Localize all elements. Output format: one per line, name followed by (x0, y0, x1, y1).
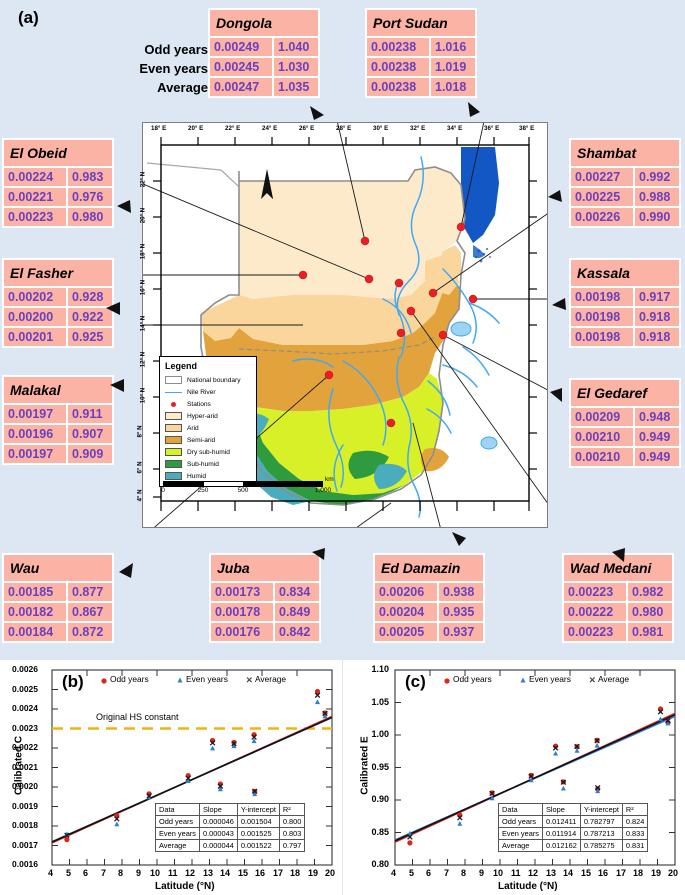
legend-label: Semi-arid (187, 437, 215, 444)
lon-tick: 28° E (336, 125, 351, 132)
table-row: 0.002050.937 (375, 623, 483, 641)
cell-c: 0.00197 (4, 445, 66, 463)
cell-c: 0.00227 (571, 168, 633, 186)
station-name: Shambat (571, 140, 679, 166)
table-row: 0.002090.948 (571, 408, 679, 426)
y-tick: 0.0024 (12, 703, 38, 713)
x-tick: 14 (220, 868, 230, 878)
cell-c: 0.00205 (375, 623, 437, 641)
station-table-shambat: Shambat 0.002270.992 0.002250.988 0.0022… (569, 138, 681, 228)
cell-c: 0.00185 (4, 583, 66, 601)
cell-c: 0.00201 (4, 328, 66, 346)
cell-e: 0.922 (68, 308, 112, 326)
cell-c: 0.00202 (4, 288, 66, 306)
x-tick: 11 (168, 868, 178, 878)
y-axis-label: Calibrated E (360, 716, 371, 816)
chart-b-calibrated-c: (b) Odd years Even years Average Origina… (0, 660, 342, 895)
cell-c: 0.00206 (375, 583, 437, 601)
x-tick: 7 (101, 868, 106, 878)
table-row: 0.002220.980 (564, 603, 672, 621)
station-name: Wau (4, 555, 112, 581)
station-table-port-sudan: Port Sudan 0.002381.016 0.002381.019 0.0… (365, 8, 477, 98)
station-table-kassala: Kassala 0.001980.917 0.001980.918 0.0019… (569, 258, 681, 348)
lat-tick: 8° N (137, 425, 144, 437)
x-tick: 16 (598, 868, 608, 878)
station-dot-icon (165, 402, 182, 407)
legend-label: Humid (187, 473, 206, 480)
hs-constant-annotation: Original HS constant (96, 712, 179, 722)
legend-marker-odd-years (101, 678, 106, 683)
map-scale-bar: km 0 250 500 1,000 (163, 481, 335, 496)
station-table-wau: Wau 0.001850.877 0.001820.867 0.001840.8… (2, 553, 114, 643)
cell-c: 0.00176 (211, 623, 273, 641)
cell-e: 0.925 (68, 328, 112, 346)
cell-e: 0.983 (68, 168, 112, 186)
lat-tick: 12° N (139, 352, 146, 368)
lon-tick: 20° E (188, 125, 203, 132)
lat-tick: 22° N (139, 172, 146, 188)
cell-c: 0.00225 (571, 188, 633, 206)
x-tick: 16 (255, 868, 265, 878)
col-header-yintercept: Y-intercept (237, 804, 279, 816)
cell-c: 0.00182 (4, 603, 66, 621)
table-row: Even years 0.011914 0.787213 0.833 (499, 828, 648, 840)
cell-c: 0.00249 (210, 38, 272, 56)
x-tick: 14 (563, 868, 573, 878)
scale-tick: 250 (198, 487, 209, 494)
cell-e: 0.980 (68, 208, 112, 226)
station-name: El Obeid (4, 140, 112, 166)
cell-c: 0.00196 (4, 425, 66, 443)
humid-swatch-icon (165, 472, 182, 480)
station-name: Wad Medani (564, 555, 672, 581)
table-row: Even years 0.000043 0.001525 0.803 (156, 828, 305, 840)
cell-c: 0.00200 (4, 308, 66, 326)
table-row: 0.001780.849 (211, 603, 319, 621)
table-header-row: Data Slope Y-intercept R² (156, 804, 305, 816)
table-row: 0.002100.949 (571, 428, 679, 446)
table-row: Odd years 0.000046 0.001504 0.800 (156, 816, 305, 828)
cell-e: 1.019 (431, 58, 475, 76)
legend-item-arid: Arid (165, 422, 251, 434)
table-row: 0.002491.040 (210, 38, 318, 56)
x-tick: 6 (426, 868, 431, 878)
lon-tick: 36° E (484, 125, 499, 132)
scale-unit: km (325, 476, 334, 483)
table-row: 0.002040.935 (375, 603, 483, 621)
cell-e: 0.982 (628, 583, 672, 601)
station-name: Port Sudan (367, 10, 475, 36)
y-tick: 0.80 (371, 859, 389, 869)
fit-table-c: Data Slope Y-intercept R² Odd years 0.01… (498, 803, 648, 852)
station-table-malakal: Malakal 0.001970.911 0.001960.907 0.0019… (2, 375, 114, 465)
cell-e: 0.872 (68, 623, 112, 641)
lon-tick: 22° E (225, 125, 240, 132)
lat-tick: 14° N (139, 316, 146, 332)
cell-c: 0.00197 (4, 405, 66, 423)
panel-b-label: (b) (62, 672, 84, 692)
legend-label-odd-years: Odd years (453, 674, 492, 684)
legend-label: National boundary (187, 377, 241, 384)
table-row: 0.002270.992 (571, 168, 679, 186)
table-row-labels: Odd years Even years Average (110, 40, 208, 97)
legend-label-odd-years: Odd years (110, 674, 149, 684)
x-tick: 9 (136, 868, 141, 878)
cell-e: 0.980 (628, 603, 672, 621)
table-row: 0.001960.907 (4, 425, 112, 443)
x-tick: 8 (461, 868, 466, 878)
station-name: Dongola (210, 10, 318, 36)
cell-e: 0.918 (635, 308, 679, 326)
table-header-row: Data Slope Y-intercept R² (499, 804, 648, 816)
legend-item-dry-sub-humid: Dry sub-humid (165, 446, 251, 458)
x-tick: 4 (391, 868, 396, 878)
cell-c: 0.00223 (4, 208, 66, 226)
cell-e: 0.834 (275, 583, 319, 601)
cell-e: 0.917 (635, 288, 679, 306)
cell-e: 0.909 (68, 445, 112, 463)
table-row: 0.002260.990 (571, 208, 679, 226)
table-row: 0.002230.980 (4, 208, 112, 226)
col-header-r2: R² (622, 804, 648, 816)
lat-tick: 20° N (139, 208, 146, 224)
station-table-dongola: Dongola 0.002491.040 0.002451.030 0.0024… (208, 8, 320, 98)
x-tick: 20 (668, 868, 678, 878)
chart-b-svg (0, 660, 342, 895)
y-tick: 0.95 (371, 762, 389, 772)
cell-e: 0.990 (635, 208, 679, 226)
x-tick: 10 (493, 868, 503, 878)
cell-c: 0.00204 (375, 603, 437, 621)
chart-c-calibrated-e: (c) Odd years Even years Average 0.80 0.… (343, 660, 685, 895)
station-name: Juba (211, 555, 319, 581)
cell-e: 0.918 (635, 328, 679, 346)
station-table-juba: Juba 0.001730.834 0.001780.849 0.001760.… (209, 553, 321, 643)
cell-c: 0.00245 (210, 58, 272, 76)
table-row: 0.002471.035 (210, 78, 318, 96)
x-tick: 15 (581, 868, 591, 878)
lat-tick: 16° N (139, 280, 146, 296)
cell-c: 0.00209 (571, 408, 633, 426)
cell-e: 1.040 (274, 38, 318, 56)
cell-e: 0.949 (635, 448, 679, 466)
cell-c: 0.00210 (571, 428, 633, 446)
legend-item-nile-river: Nile River (165, 386, 251, 398)
table-row: 0.002060.938 (375, 583, 483, 601)
map-legend: Legend National boundary Nile River Stat… (159, 356, 257, 487)
lon-tick: 38° E (519, 125, 534, 132)
table-row: 0.002010.925 (4, 328, 112, 346)
table-row: 0.001820.867 (4, 603, 112, 621)
dry-sub-humid-swatch-icon (165, 448, 182, 456)
cell-e: 0.937 (439, 623, 483, 641)
y-tick: 0.90 (371, 794, 389, 804)
legend-label-average: Average (255, 674, 286, 684)
station-table-el-gedaref: El Gedaref 0.002090.948 0.002100.949 0.0… (569, 378, 681, 468)
x-tick: 12 (185, 868, 195, 878)
lat-tick: 10° N (139, 388, 146, 404)
cell-c: 0.00238 (367, 78, 429, 96)
cell-e: 0.938 (439, 583, 483, 601)
cell-e: 0.992 (635, 168, 679, 186)
cell-e: 0.948 (635, 408, 679, 426)
scale-tick: 1,000 (315, 487, 331, 494)
table-row: Average 0.000044 0.001522 0.797 (156, 840, 305, 852)
scale-tick: 0 (161, 487, 165, 494)
station-name: Kassala (571, 260, 679, 286)
table-row: Odd years 0.012411 0.782797 0.824 (499, 816, 648, 828)
x-tick: 15 (238, 868, 248, 878)
col-header-r2: R² (279, 804, 305, 816)
col-header-slope: Slope (199, 804, 237, 816)
x-tick: 9 (479, 868, 484, 878)
table-row: 0.002020.928 (4, 288, 112, 306)
table-row: 0.002451.030 (210, 58, 318, 76)
y-tick: 0.0017 (12, 840, 38, 850)
cell-c: 0.00210 (571, 448, 633, 466)
col-header-data: Data (499, 804, 543, 816)
sub-humid-swatch-icon (165, 460, 182, 468)
legend-title: Legend (165, 361, 251, 371)
cell-e: 0.949 (635, 428, 679, 446)
national-boundary-swatch-icon (165, 376, 182, 384)
cell-c: 0.00173 (211, 583, 273, 601)
station-name: Malakal (4, 377, 112, 403)
station-table-wad-medani: Wad Medani 0.002230.982 0.002220.980 0.0… (562, 553, 674, 643)
legend-marker-odd-years (444, 678, 449, 683)
row-label-even-years: Even years (110, 59, 208, 78)
x-axis-label: Latitude (°N) (498, 881, 558, 892)
x-tick: 17 (616, 868, 626, 878)
fit-table-b: Data Slope Y-intercept R² Odd years 0.00… (155, 803, 305, 852)
panel-a-label: (a) (18, 8, 39, 28)
table-row: 0.002381.019 (367, 58, 475, 76)
cell-c: 0.00238 (367, 58, 429, 76)
legend-item-sub-humid: Sub-humid (165, 458, 251, 470)
table-row: 0.001730.834 (211, 583, 319, 601)
cell-c: 0.00223 (564, 583, 626, 601)
station-table-el-fasher: El Fasher 0.002020.928 0.002000.922 0.00… (2, 258, 114, 348)
x-tick: 13 (203, 868, 213, 878)
x-tick: 5 (409, 868, 414, 878)
x-tick: 20 (325, 868, 335, 878)
table-row: 0.001980.918 (571, 308, 679, 326)
cell-e: 0.911 (68, 405, 112, 423)
station-name: El Gedaref (571, 380, 679, 406)
legend-item-semi-arid: Semi-arid (165, 434, 251, 446)
col-header-data: Data (156, 804, 200, 816)
cell-e: 0.907 (68, 425, 112, 443)
cell-c: 0.00198 (571, 328, 633, 346)
y-tick: 0.0026 (12, 664, 38, 674)
legend-label: Sub-humid (187, 461, 219, 468)
arid-swatch-icon (165, 424, 182, 432)
legend-label: Stations (187, 401, 211, 408)
cell-c: 0.00178 (211, 603, 273, 621)
station-name: El Fasher (4, 260, 112, 286)
cell-c: 0.00223 (564, 623, 626, 641)
table-row: 0.001840.872 (4, 623, 112, 641)
lon-tick: 26° E (299, 125, 314, 132)
cell-c: 0.00198 (571, 308, 633, 326)
cell-e: 0.935 (439, 603, 483, 621)
table-row: 0.002230.981 (564, 623, 672, 641)
x-axis-label: Latitude (°N) (155, 881, 215, 892)
table-row: 0.001980.918 (571, 328, 679, 346)
lon-tick: 34° E (447, 125, 462, 132)
cell-e: 1.035 (274, 78, 318, 96)
cell-e: 0.976 (68, 188, 112, 206)
cell-e: 0.842 (275, 623, 319, 641)
cell-c: 0.00238 (367, 38, 429, 56)
panel-c-label: (c) (405, 672, 426, 692)
x-tick: 7 (444, 868, 449, 878)
legend-item-stations: Stations (165, 398, 251, 410)
x-tick: 18 (290, 868, 300, 878)
table-row: 0.002381.018 (367, 78, 475, 96)
lon-tick: 18° E (151, 125, 166, 132)
cell-c: 0.00221 (4, 188, 66, 206)
x-tick: 13 (546, 868, 556, 878)
cell-e: 0.877 (68, 583, 112, 601)
x-tick: 10 (150, 868, 160, 878)
legend-label: Arid (187, 425, 199, 432)
table-row: 0.002381.016 (367, 38, 475, 56)
cell-e: 0.849 (275, 603, 319, 621)
cell-e: 1.016 (431, 38, 475, 56)
x-tick: 19 (308, 868, 318, 878)
lat-tick: 18° N (139, 244, 146, 260)
sudan-aridity-map: 18° E 20° E 22° E 24° E 26° E 28° E 30° … (142, 122, 548, 528)
x-tick: 17 (273, 868, 283, 878)
col-header-slope: Slope (542, 804, 580, 816)
y-tick: 1.05 (371, 697, 389, 707)
semi-arid-swatch-icon (165, 436, 182, 444)
legend-label-even-years: Even years (529, 674, 571, 684)
cell-e: 0.928 (68, 288, 112, 306)
table-row: 0.001970.911 (4, 405, 112, 423)
legend-label: Hyper-arid (187, 413, 218, 420)
lon-tick: 30° E (373, 125, 388, 132)
table-row: 0.001850.877 (4, 583, 112, 601)
x-tick: 4 (48, 868, 53, 878)
legend-item-hyper-arid: Hyper-arid (165, 410, 251, 422)
cell-c: 0.00184 (4, 623, 66, 641)
lon-tick: 24° E (262, 125, 277, 132)
cell-e: 1.018 (431, 78, 475, 96)
x-tick: 8 (118, 868, 123, 878)
legend-label-average: Average (598, 674, 629, 684)
table-row: Average 0.012162 0.785275 0.831 (499, 840, 648, 852)
x-tick: 5 (66, 868, 71, 878)
cell-e: 0.867 (68, 603, 112, 621)
legend-label: Nile River (187, 389, 216, 396)
y-axis-label: Calibrated C (14, 716, 25, 816)
col-header-yintercept: Y-intercept (580, 804, 622, 816)
table-row: 0.002000.922 (4, 308, 112, 326)
table-row: 0.002240.983 (4, 168, 112, 186)
hyper-arid-swatch-icon (165, 412, 182, 420)
lon-tick: 32° E (410, 125, 425, 132)
y-tick: 0.85 (371, 827, 389, 837)
panel-a-map-with-station-tables: (a) Odd years Even years Average Dongola… (0, 0, 685, 660)
cell-e: 0.988 (635, 188, 679, 206)
legend-label: Dry sub-humid (187, 449, 230, 456)
row-label-average: Average (110, 78, 208, 97)
cell-c: 0.00224 (4, 168, 66, 186)
y-tick: 0.0025 (12, 684, 38, 694)
y-tick: 1.10 (371, 664, 389, 674)
lat-tick: 4° N (137, 489, 144, 501)
cell-e: 1.030 (274, 58, 318, 76)
x-tick: 19 (651, 868, 661, 878)
table-row: 0.001980.917 (571, 288, 679, 306)
cell-c: 0.00222 (564, 603, 626, 621)
table-row: 0.001970.909 (4, 445, 112, 463)
station-table-el-obeid: El Obeid 0.002240.983 0.002210.976 0.002… (2, 138, 114, 228)
x-tick: 6 (83, 868, 88, 878)
chart-c-svg (343, 660, 685, 895)
table-row: 0.001760.842 (211, 623, 319, 641)
nile-river-line-icon (165, 392, 182, 393)
y-tick: 0.0016 (12, 859, 38, 869)
x-tick: 11 (511, 868, 521, 878)
station-name: Ed Damazin (375, 555, 483, 581)
cell-c: 0.00247 (210, 78, 272, 96)
table-row: 0.002100.949 (571, 448, 679, 466)
legend-label-even-years: Even years (186, 674, 228, 684)
y-tick: 1.00 (371, 729, 389, 739)
station-table-ed-damazin: Ed Damazin 0.002060.938 0.002040.935 0.0… (373, 553, 485, 643)
table-row: 0.002210.976 (4, 188, 112, 206)
legend-item-national-boundary: National boundary (165, 374, 251, 386)
cell-c: 0.00198 (571, 288, 633, 306)
y-tick: 0.0018 (12, 820, 38, 830)
row-label-odd-years: Odd years (110, 40, 208, 59)
cell-c: 0.00226 (571, 208, 633, 226)
lat-tick: 6° N (137, 461, 144, 473)
x-tick: 12 (528, 868, 538, 878)
x-tick: 18 (633, 868, 643, 878)
cell-e: 0.981 (628, 623, 672, 641)
table-row: 0.002250.988 (571, 188, 679, 206)
table-row: 0.002230.982 (564, 583, 672, 601)
scale-tick: 500 (238, 487, 249, 494)
